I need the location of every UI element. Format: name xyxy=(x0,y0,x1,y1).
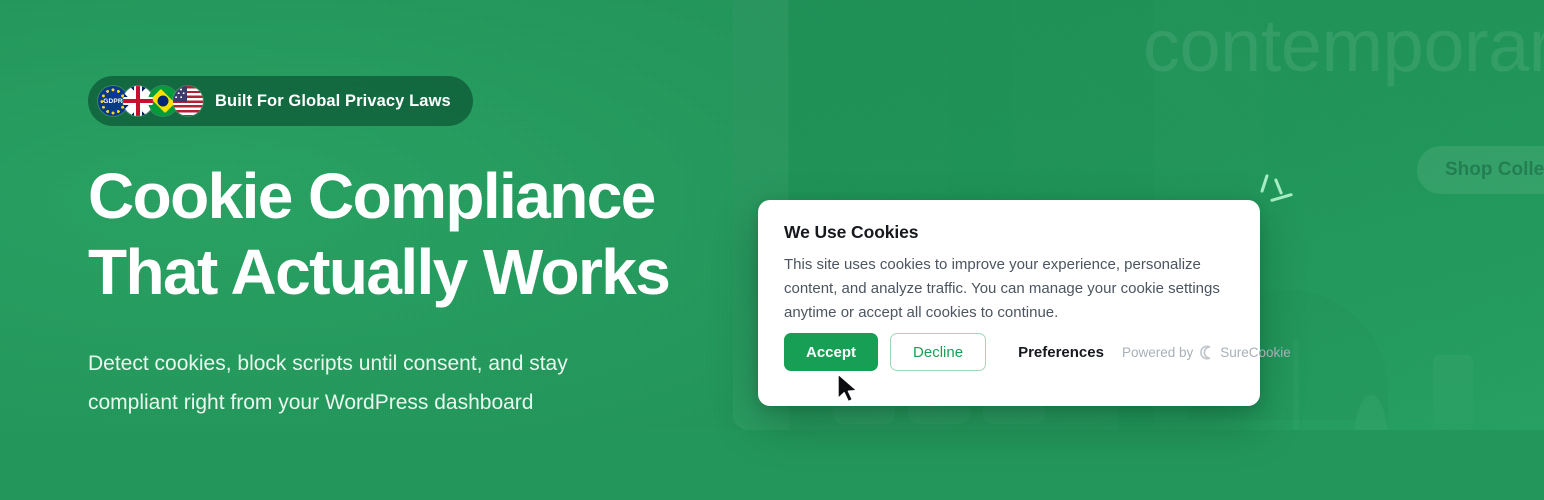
uk-flag-icon xyxy=(123,86,153,116)
page-title: Cookie Compliance That Actually Works xyxy=(88,158,708,310)
shop-collection-button[interactable]: Shop Collection xyxy=(1417,146,1544,194)
cookie-dialog-body: This site uses cookies to improve your e… xyxy=(784,253,1236,325)
decline-button[interactable]: Decline xyxy=(890,333,986,371)
hero-left-column: GDPR Built For Global Privacy Laws Cooki… xyxy=(88,0,728,500)
powered-by-text: Powered by xyxy=(1122,345,1193,360)
accept-button[interactable]: Accept xyxy=(784,333,878,371)
cookie-consent-dialog: We Use Cookies This site uses cookies to… xyxy=(758,200,1260,406)
mouse-cursor-icon xyxy=(836,373,862,405)
click-sparkle-icon xyxy=(1253,172,1297,212)
preview-ghost-heading-line2: contemporar xyxy=(1143,6,1544,86)
headline-line-2: That Actually Works xyxy=(88,234,708,310)
preferences-button[interactable]: Preferences xyxy=(1000,333,1122,371)
cookie-dialog-actions: Accept Decline Preferences Powered by Su… xyxy=(784,333,1234,371)
cookie-dialog-title: We Use Cookies xyxy=(784,222,1234,243)
headline-line-1: Cookie Compliance xyxy=(88,160,655,232)
surecookie-logo-icon xyxy=(1199,345,1214,360)
global-privacy-badge: GDPR Built For Global Privacy Laws xyxy=(88,76,473,126)
hero-subtitle: Detect cookies, block scripts until cons… xyxy=(88,344,628,422)
usa-flag-icon xyxy=(173,86,203,116)
surecookie-brand-name: SureCookie xyxy=(1220,345,1291,360)
badge-label: Built For Global Privacy Laws xyxy=(215,92,451,111)
powered-by-attribution: Powered by SureCookie xyxy=(1122,345,1291,360)
flag-group: GDPR xyxy=(98,86,203,116)
